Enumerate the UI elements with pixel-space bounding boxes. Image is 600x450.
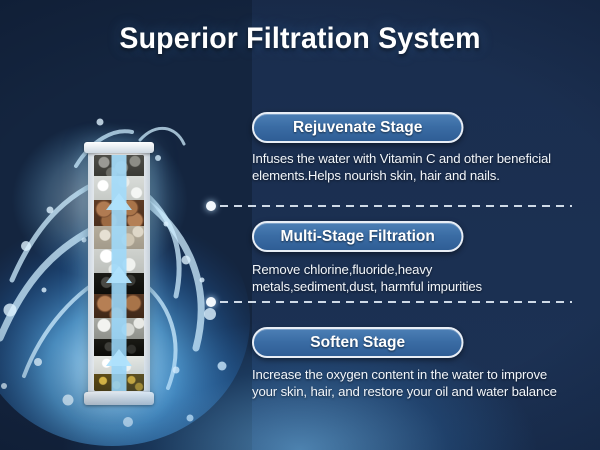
divider-dot-icon [206, 201, 216, 211]
divider-dashed-line [220, 301, 572, 303]
promo-banner: Superior Filtration System Rejuvenate St… [0, 0, 600, 450]
page-title: Superior Filtration System [15, 22, 585, 56]
stages-column: Rejuvenate Stage Infuses the water with … [252, 112, 582, 400]
flow-arrow-upper [106, 193, 132, 210]
stage-block-soften: Soften Stage Increase the oxygen content… [252, 327, 582, 400]
divider-dot-icon [206, 297, 216, 307]
stage-description-line: Increase the oxygen content in the water… [252, 366, 582, 383]
stage-block-rejuvenate: Rejuvenate Stage Infuses the water with … [252, 112, 582, 184]
stage-description-multi-stage: Remove chlorine,fluoride,heavy metals,se… [252, 261, 582, 295]
divider-two [206, 297, 572, 307]
stage-description-line: Infuses the water with Vitamin C and oth… [252, 150, 582, 167]
divider-one [206, 201, 572, 211]
flow-arrow-mid [106, 266, 132, 283]
stage-description-line: Remove chlorine,fluoride,heavy [252, 261, 582, 278]
divider-dashed-line [220, 205, 572, 207]
stage-description-rejuvenate: Infuses the water with Vitamin C and oth… [252, 150, 582, 184]
stage-block-multi-stage: Multi-Stage Filtration Remove chlorine,f… [252, 221, 582, 295]
stage-badge-rejuvenate[interactable]: Rejuvenate Stage [252, 112, 463, 143]
stage-description-line: metals,sediment,dust, harmful impurities [252, 278, 582, 295]
stage-description-line: elements.Helps nourish skin, hair and na… [252, 167, 582, 184]
stage-badge-multi-stage[interactable]: Multi-Stage Filtration [252, 221, 463, 252]
stage-description-soften: Increase the oxygen content in the water… [252, 366, 582, 400]
stage-badge-soften[interactable]: Soften Stage [252, 327, 463, 358]
stage-description-line: your skin, hair, and restore your oil an… [252, 383, 582, 400]
flow-arrow-lower [106, 349, 132, 366]
